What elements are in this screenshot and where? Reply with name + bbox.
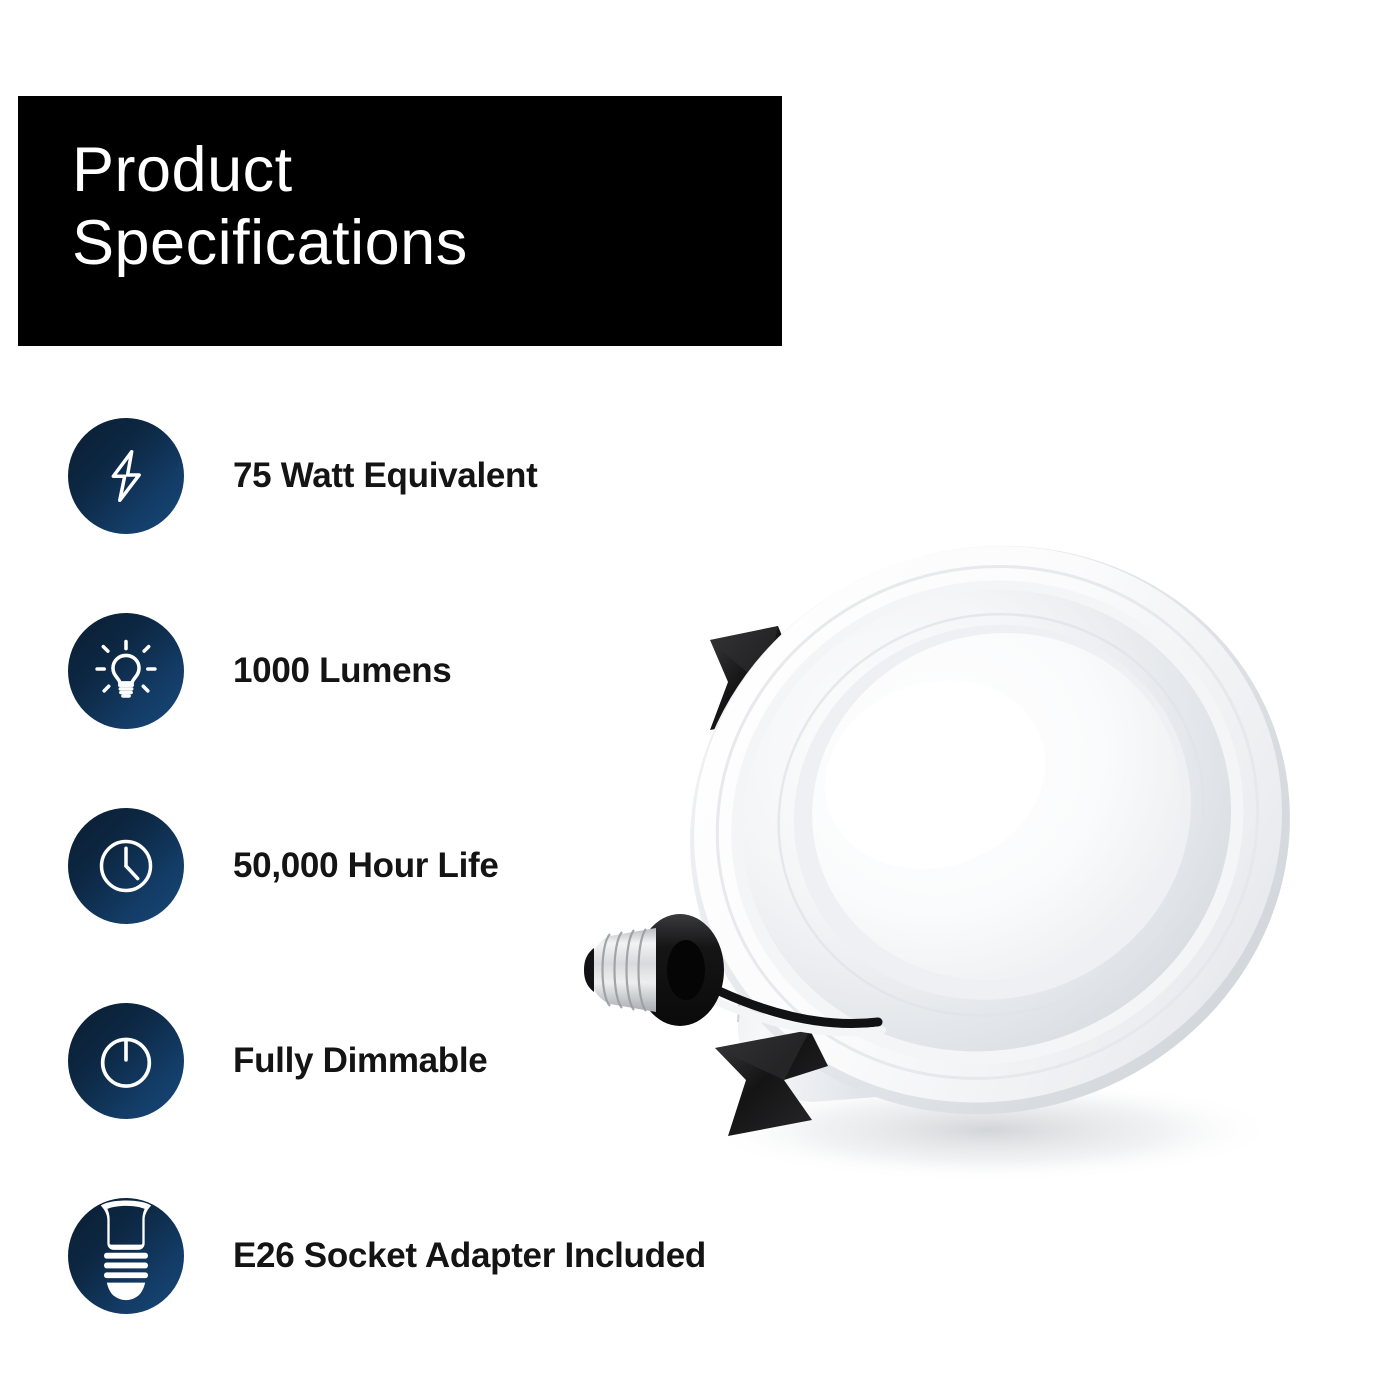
spec-icon-circle [68,613,184,729]
e26-socket-adapter [584,914,724,1026]
banner-panel: Product Specifications [0,78,766,336]
spec-icon-circle [68,1003,184,1119]
downlight-illustration [560,430,1400,1210]
downlight-trim-ring [613,465,1368,1195]
spec-label: E26 Socket Adapter Included [233,1198,706,1314]
spec-icon-circle [68,1198,184,1314]
spec-icon-circle [68,418,184,534]
clock-icon [91,831,161,901]
spec-label: 1000 Lumens [233,613,451,729]
page-title-line-1: Product [72,139,766,202]
lightning-bolt-icon [95,445,157,507]
socket-base-icon [70,1200,182,1312]
page-title-line-2: Specifications [72,212,766,275]
spec-icon-circle [68,808,184,924]
light-bulb-icon [92,637,160,705]
spec-label: Fully Dimmable [233,1003,487,1119]
spec-row: E26 Socket Adapter Included [68,1198,888,1393]
spec-label: 50,000 Hour Life [233,808,499,924]
spec-label: 75 Watt Equivalent [233,418,537,534]
power-button-icon [91,1026,161,1096]
product-image [560,430,1400,1210]
product-specifications-page: Product Specifications 75 Watt Equivalen… [0,0,1400,1400]
header-banner: Product Specifications [0,78,782,346]
